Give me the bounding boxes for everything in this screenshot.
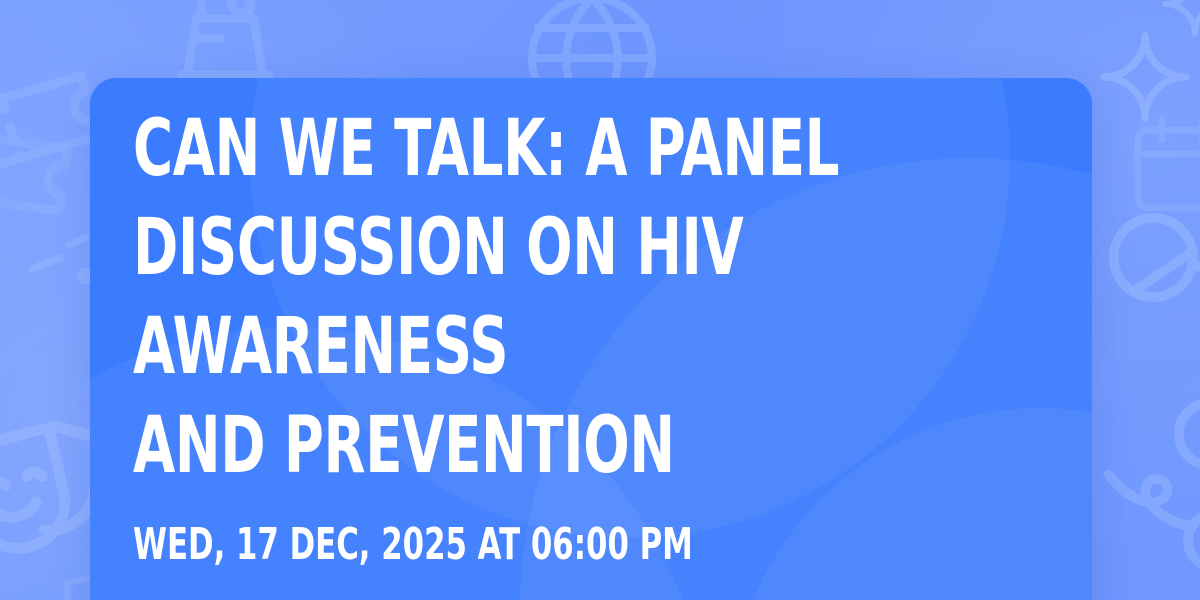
event-title: CAN WE TALK: A PANEL DISCUSSION ON HIV A…: [133, 100, 1092, 496]
event-datetime: WED, 17 DEC, 2025 AT 06:00 PM: [133, 520, 1092, 570]
balloon-icon: [1092, 400, 1200, 600]
card-content: CAN WE TALK: A PANEL DISCUSSION ON HIV A…: [90, 78, 1092, 570]
event-banner: CAN WE TALK: A PANEL DISCUSSION ON HIV A…: [0, 0, 1200, 600]
sparkle-icon: [1155, 0, 1200, 44]
calendar-icon: [1122, 104, 1200, 224]
event-card: CAN WE TALK: A PANEL DISCUSSION ON HIV A…: [90, 78, 1092, 600]
